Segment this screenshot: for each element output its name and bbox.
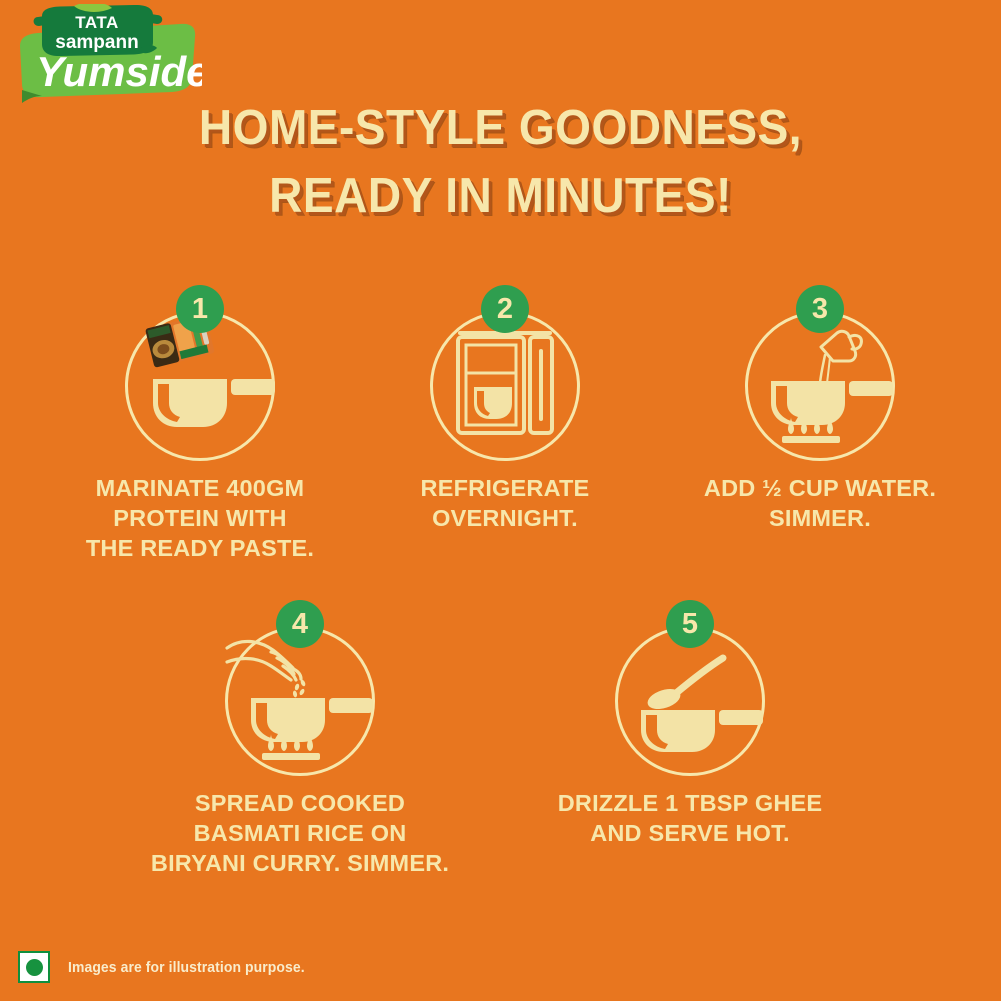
- step-3-badge: 3: [796, 285, 844, 333]
- step-1-caption-line-1: MARINATE 400GM: [50, 473, 350, 503]
- step-4-caption-line-2: BASMATI RICE ON: [150, 818, 450, 848]
- step-1-icon-box: 1: [112, 285, 288, 461]
- step-2-caption-line-2: OVERNIGHT.: [355, 503, 655, 533]
- pouring-water-into-pan-on-stove-icon: [745, 311, 895, 461]
- svg-text:Yumside: Yumside: [36, 48, 202, 95]
- promo-infographic: TATA sampann Yumside HOME-STYLE GOODNESS…: [0, 0, 1001, 1001]
- step-card-3: 3: [670, 285, 970, 533]
- step-card-2: 2 REFRIGERATE OVERNIGHT.: [355, 285, 655, 533]
- step-4-caption: SPREAD COOKED BASMATI RICE ON BIRYANI CU…: [150, 788, 450, 878]
- step-1-caption: MARINATE 400GM PROTEIN WITH THE READY PA…: [50, 473, 350, 563]
- spoon-over-pan-icon: [615, 626, 765, 776]
- headline-line-2: READY IN MINUTES!: [30, 163, 971, 231]
- vegetarian-dot: [26, 959, 43, 976]
- step-5-icon-box: 5: [602, 600, 778, 776]
- step-card-5: 5 DRIZZLE 1 TBSP GHEE AND SERVE HOT.: [540, 600, 840, 848]
- step-2-icon-box: 2: [417, 285, 593, 461]
- step-1-caption-line-2: PROTEIN WITH: [50, 503, 350, 533]
- step-3-icon-box: 3: [732, 285, 908, 461]
- step-2-caption: REFRIGERATE OVERNIGHT.: [355, 473, 655, 533]
- step-3-caption-line-2: SIMMER.: [670, 503, 970, 533]
- vegetarian-mark-icon: [18, 951, 50, 983]
- step-2-caption-line-1: REFRIGERATE: [355, 473, 655, 503]
- step-4-badge: 4: [276, 600, 324, 648]
- step-4-caption-line-1: SPREAD COOKED: [150, 788, 450, 818]
- step-4-caption-line-3: BIRYANI CURRY. SIMMER.: [150, 848, 450, 878]
- step-1-caption-line-3: THE READY PASTE.: [50, 533, 350, 563]
- refrigerator-with-bowl-icon: [430, 311, 580, 461]
- step-5-caption-line-2: AND SERVE HOT.: [540, 818, 840, 848]
- brand-logo: TATA sampann Yumside: [12, 4, 202, 104]
- page-title: HOME-STYLE GOODNESS, READY IN MINUTES!: [30, 95, 971, 230]
- step-2-badge: 2: [481, 285, 529, 333]
- yumside-logo-icon: TATA sampann Yumside: [12, 4, 202, 104]
- bowl-with-spice-packet-icon: [125, 311, 275, 461]
- svg-text:TATA: TATA: [75, 13, 119, 32]
- step-1-badge: 1: [176, 285, 224, 333]
- footer: Images are for illustration purpose.: [18, 951, 323, 983]
- step-card-4: 4: [150, 600, 450, 878]
- step-card-1: 1: [50, 285, 350, 563]
- headline-line-1: HOME-STYLE GOODNESS,: [30, 95, 971, 163]
- step-5-caption-line-1: DRIZZLE 1 TBSP GHEE: [540, 788, 840, 818]
- step-3-caption-line-1: ADD ½ CUP WATER.: [670, 473, 970, 503]
- disclaimer-text: Images are for illustration purpose.: [68, 959, 305, 976]
- step-5-badge: 5: [666, 600, 714, 648]
- hand-sprinkling-rice-into-pan-icon: [225, 626, 375, 776]
- step-5-caption: DRIZZLE 1 TBSP GHEE AND SERVE HOT.: [540, 788, 840, 848]
- step-4-icon-box: 4: [212, 600, 388, 776]
- step-3-caption: ADD ½ CUP WATER. SIMMER.: [670, 473, 970, 533]
